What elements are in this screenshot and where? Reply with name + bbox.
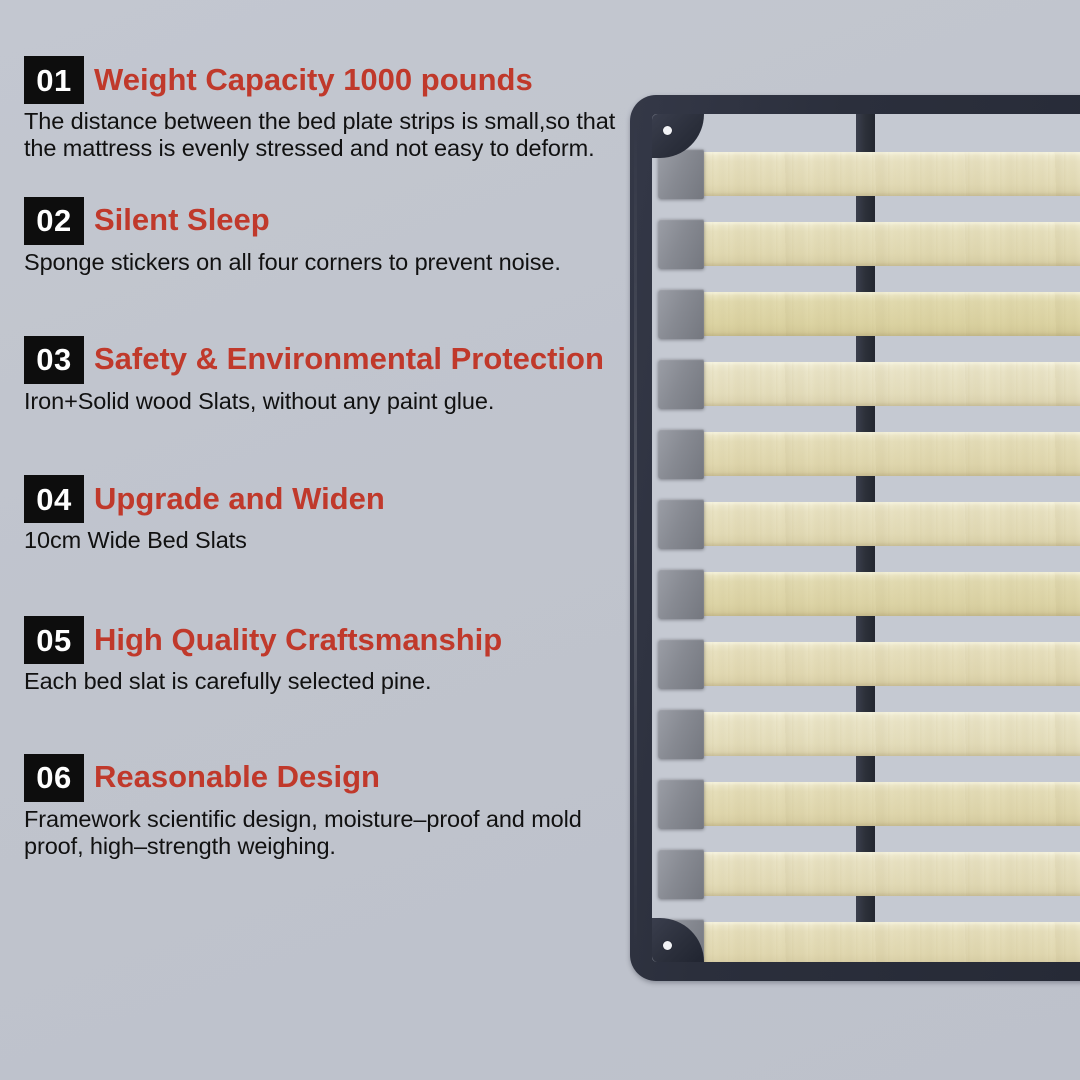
wooden-slat xyxy=(652,642,1080,686)
slat-end-cap xyxy=(658,289,704,339)
feature-title: Safety & Environmental Protection xyxy=(94,343,604,376)
wooden-slat xyxy=(652,292,1080,336)
feature-title: Weight Capacity 1000 pounds xyxy=(94,64,533,97)
slat-wood-surface xyxy=(696,502,1080,546)
slat-end-cap xyxy=(658,709,704,759)
feature-number-badge: 01 xyxy=(24,56,84,104)
wooden-slat xyxy=(652,152,1080,196)
feature-description: The distance between the bed plate strip… xyxy=(24,108,624,163)
slat-end-cap xyxy=(658,569,704,619)
slat-wood-surface xyxy=(696,642,1080,686)
feature-description: Each bed slat is carefully selected pine… xyxy=(24,668,624,695)
slat-end-cap xyxy=(658,219,704,269)
feature-title: High Quality Craftsmanship xyxy=(94,624,502,657)
slat-end-cap xyxy=(658,499,704,549)
feature-heading: 03 Safety & Environmental Protection xyxy=(24,336,624,384)
feature-item: 04 Upgrade and Widen 10cm Wide Bed Slats xyxy=(24,475,624,554)
wooden-slat xyxy=(652,922,1080,962)
slat-wood-surface xyxy=(696,432,1080,476)
wooden-slat xyxy=(652,782,1080,826)
wooden-slat xyxy=(652,362,1080,406)
feature-item: 03 Safety & Environmental Protection Iro… xyxy=(24,336,624,415)
wooden-slat xyxy=(652,852,1080,896)
feature-item: 05 High Quality Craftsmanship Each bed s… xyxy=(24,616,624,695)
feature-number-badge: 05 xyxy=(24,616,84,664)
screw-hole-icon xyxy=(663,126,672,135)
slat-wood-surface xyxy=(696,852,1080,896)
wooden-slat xyxy=(652,432,1080,476)
slat-end-cap xyxy=(658,359,704,409)
slat-wood-surface xyxy=(696,712,1080,756)
slat-end-cap xyxy=(658,429,704,479)
slat-end-cap xyxy=(658,779,704,829)
feature-title: Upgrade and Widen xyxy=(94,483,385,516)
feature-number-badge: 02 xyxy=(24,197,84,245)
wooden-slat xyxy=(652,572,1080,616)
feature-heading: 05 High Quality Craftsmanship xyxy=(24,616,624,664)
feature-item: 02 Silent Sleep Sponge stickers on all f… xyxy=(24,197,624,276)
feature-list: 01 Weight Capacity 1000 pounds The dista… xyxy=(24,56,624,860)
feature-number-badge: 03 xyxy=(24,336,84,384)
slat-wood-surface xyxy=(696,222,1080,266)
feature-description: Iron+Solid wood Slats, without any paint… xyxy=(24,388,624,415)
slat-wood-surface xyxy=(696,782,1080,826)
bed-slat-frame-image xyxy=(630,95,1080,981)
feature-title: Silent Sleep xyxy=(94,204,270,237)
feature-description: 10cm Wide Bed Slats xyxy=(24,527,624,554)
wooden-slat xyxy=(652,712,1080,756)
frame-rail-highlight xyxy=(634,121,637,955)
wooden-slat xyxy=(652,502,1080,546)
slat-wood-surface xyxy=(696,362,1080,406)
feature-number-badge: 04 xyxy=(24,475,84,523)
feature-title: Reasonable Design xyxy=(94,761,380,794)
feature-description: Sponge stickers on all four corners to p… xyxy=(24,249,624,276)
feature-description: Framework scientific design, moisture–pr… xyxy=(24,806,624,861)
slat-wood-surface xyxy=(696,292,1080,336)
slat-end-cap xyxy=(658,849,704,899)
wooden-slat xyxy=(652,222,1080,266)
screw-hole-icon xyxy=(663,941,672,950)
feature-item: 01 Weight Capacity 1000 pounds The dista… xyxy=(24,56,624,163)
infographic-page: 01 Weight Capacity 1000 pounds The dista… xyxy=(0,0,1080,1080)
wooden-slats-group xyxy=(652,114,1080,962)
feature-heading: 06 Reasonable Design xyxy=(24,754,624,802)
feature-heading: 01 Weight Capacity 1000 pounds xyxy=(24,56,624,104)
slat-wood-surface xyxy=(696,152,1080,196)
frame-inner-cavity xyxy=(652,114,1080,962)
slat-wood-surface xyxy=(696,572,1080,616)
slat-end-cap xyxy=(658,639,704,689)
feature-number-badge: 06 xyxy=(24,754,84,802)
feature-item: 06 Reasonable Design Framework scientifi… xyxy=(24,754,624,861)
feature-heading: 02 Silent Sleep xyxy=(24,197,624,245)
feature-heading: 04 Upgrade and Widen xyxy=(24,475,624,523)
slat-wood-surface xyxy=(696,922,1080,962)
